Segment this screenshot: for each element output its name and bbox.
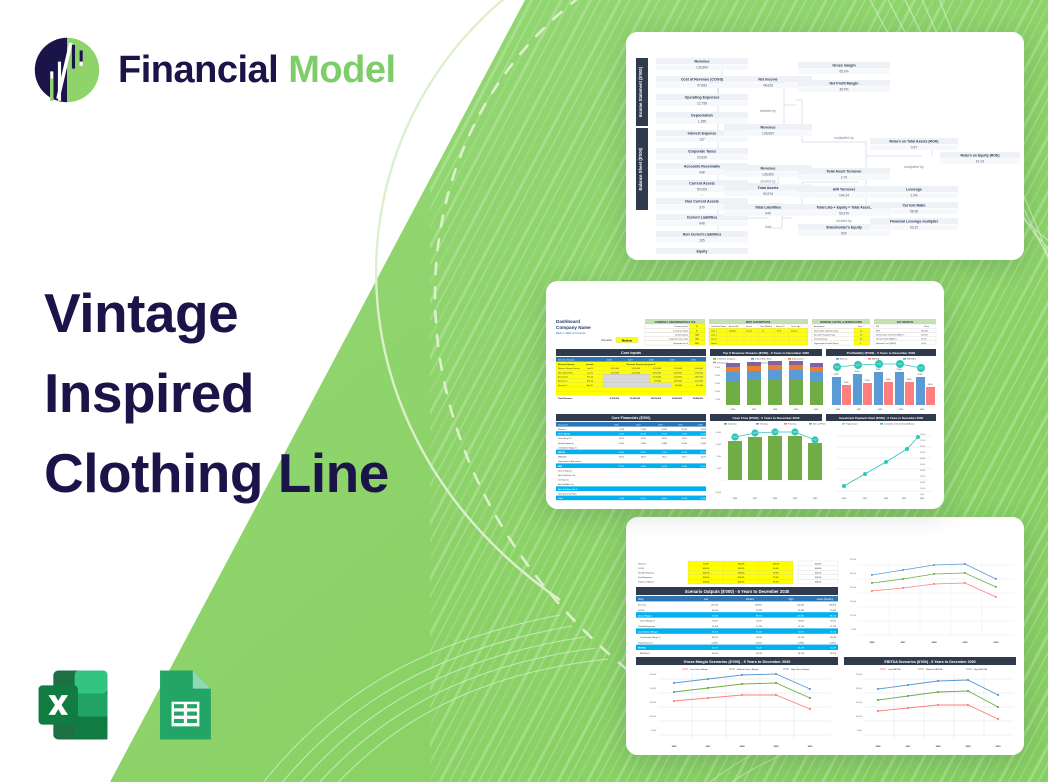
svg-text:63.1%: 63.1%	[682, 457, 687, 459]
svg-text:42,710: 42,710	[701, 452, 707, 454]
svg-text:0.97: 0.97	[911, 146, 918, 150]
svg-text:44,290: 44,290	[712, 653, 719, 655]
svg-text:20,000: 20,000	[856, 688, 863, 690]
svg-text:71,547: 71,547	[756, 648, 763, 650]
svg-text:13,590: 13,590	[641, 443, 647, 445]
headline-line-3: Clothing Line	[44, 434, 389, 514]
svg-text:848: 848	[699, 222, 705, 226]
svg-text:58.2%: 58.2%	[641, 457, 646, 459]
svg-text:95.0%: 95.0%	[773, 573, 779, 575]
svg-text:144.24: 144.24	[839, 194, 849, 198]
svg-text:Jan-26: Jan-26	[587, 368, 593, 370]
svg-text:36,270: 36,270	[641, 498, 647, 500]
svg-text:69.8%: 69.8%	[798, 621, 804, 623]
svg-text:10,000: 10,000	[650, 716, 657, 718]
svg-text:(4,384): (4,384)	[798, 642, 805, 644]
svg-text:Company Name: Company Name	[556, 325, 591, 330]
svg-text:Active (Medium): Active (Medium)	[817, 598, 834, 601]
svg-text:13,240: 13,240	[773, 432, 778, 434]
svg-text:(4,615): (4,615)	[830, 642, 837, 644]
svg-text:Revenue Forecast by years $: Revenue Forecast by years $	[627, 363, 656, 366]
svg-text:57,000: 57,000	[920, 440, 925, 442]
svg-text:48,628: 48,628	[662, 484, 668, 486]
svg-text:EBITDA %: EBITDA %	[558, 456, 567, 459]
svg-text:105.0%: 105.0%	[703, 582, 710, 584]
financial-model-circle-chart-logo	[32, 35, 102, 105]
svg-text:2029: 2029	[963, 642, 969, 644]
svg-text:16,140: 16,140	[701, 434, 707, 436]
svg-text:88,100: 88,100	[641, 434, 647, 436]
svg-text:90.0%: 90.0%	[703, 563, 709, 565]
svg-text:Scenario: Scenario	[601, 338, 612, 342]
svg-text:Leverage: Leverage	[906, 187, 922, 191]
svg-text:12,640: 12,640	[701, 443, 707, 445]
svg-text:2030: 2030	[808, 746, 814, 748]
svg-text:23,800: 23,800	[907, 379, 912, 381]
svg-text:100.0%: 100.0%	[815, 563, 822, 565]
svg-text:13,396: 13,396	[712, 626, 719, 628]
svg-text:-: -	[702, 107, 703, 111]
svg-text:12.0%: 12.0%	[921, 339, 927, 341]
svg-text:EBITDA Scenarios ($'000) - 5 Y: EBITDA Scenarios ($'000) - 5 Years to De…	[884, 660, 975, 664]
svg-text:Launch: Launch	[586, 364, 594, 366]
svg-text:4,000: 4,000	[717, 468, 722, 470]
svg-text:Interest: Interest	[791, 329, 798, 332]
svg-text:KEY METRICS: KEY METRICS	[897, 321, 914, 324]
svg-text:Total Revenue: Total Revenue	[558, 397, 573, 400]
svg-text:DEBT ASSUMPTIONS: DEBT ASSUMPTIONS	[746, 321, 771, 324]
headline-line-1: Vintage	[44, 274, 389, 354]
svg-text:71,400: 71,400	[619, 434, 625, 436]
svg-text:5,000: 5,000	[920, 494, 924, 496]
svg-text:930,000: 930,000	[654, 381, 661, 383]
svg-text:Corporate tax %: Corporate tax %	[673, 342, 688, 345]
svg-text:20,000: 20,000	[920, 482, 925, 484]
svg-text:Variable Expenses: Variable Expenses	[558, 442, 574, 445]
svg-text:30,000: 30,000	[920, 470, 925, 472]
svg-text:95.0%: 95.0%	[773, 577, 779, 579]
svg-text:45,486: 45,486	[798, 610, 805, 612]
svg-text:Profitability ($'000) - 5 Year: Profitability ($'000) - 5 Years to Decem…	[847, 351, 916, 355]
svg-text:Total Liabilities: Total Liabilities	[755, 205, 781, 209]
svg-text:-: -	[702, 89, 703, 93]
svg-text:52,290: 52,290	[830, 653, 837, 655]
brand-wordmark: Financial Model	[118, 51, 396, 89]
svg-text:1 Womens Vintage Dr...: 1 Womens Vintage Dr...	[717, 358, 737, 361]
svg-text:31,600: 31,600	[855, 371, 860, 373]
svg-text:Revenue: Revenue	[761, 125, 776, 129]
svg-text:Contribution Margin: Contribution Margin	[638, 631, 659, 634]
svg-text:2,500,000: 2,500,000	[674, 377, 682, 379]
svg-text:5,000: 5,000	[857, 730, 863, 732]
svg-text:Internal Rate of Return (IRR),: Internal Rate of Return (IRR), %	[876, 334, 905, 337]
svg-text:Depreciation Period (Years): Depreciation Period (Years)	[814, 342, 839, 345]
svg-text:74,000: 74,000	[920, 434, 925, 436]
svg-text:multiplied by: multiplied by	[834, 136, 854, 140]
google-sheets-icon[interactable]	[142, 664, 224, 746]
svg-text:35,400: 35,400	[897, 369, 902, 371]
svg-text:Grace Type: Grace Type	[791, 325, 801, 328]
svg-text:A/R Turnover: A/R Turnover	[833, 187, 856, 191]
brand-word-financial: Financial	[118, 49, 278, 91]
svg-text:Financial Leverage multiplier: Financial Leverage multiplier	[890, 219, 939, 223]
svg-text:Utility: Utility	[638, 598, 644, 601]
svg-text:Variable Expenses: Variable Expenses	[638, 625, 655, 628]
svg-text:Loan 1: Loan 1	[711, 330, 717, 332]
svg-text:47,880: 47,880	[830, 610, 837, 612]
svg-text:-: -	[702, 71, 703, 75]
svg-text:20%: 20%	[695, 343, 699, 345]
svg-text:2028: 2028	[740, 746, 746, 748]
svg-text:Interest %: Interest %	[776, 325, 785, 328]
svg-text:40,550: 40,550	[701, 466, 707, 468]
svg-text:(4,000): (4,000)	[715, 492, 721, 494]
svg-text:High: High	[789, 599, 794, 601]
svg-text:54,605: 54,605	[712, 648, 719, 650]
svg-text:40,000: 40,000	[920, 458, 925, 460]
svg-text:4,800,000: 4,800,000	[653, 372, 661, 374]
svg-text:100.0%: 100.0%	[738, 582, 745, 584]
svg-text:88,920: 88,920	[830, 615, 837, 617]
svg-text:5,000: 5,000	[716, 399, 721, 401]
svg-text:35.5%: 35.5%	[839, 88, 848, 92]
svg-text:Operating: Operating	[728, 423, 736, 426]
svg-text:Net Profit After Tax %: Net Profit After Tax %	[558, 488, 578, 491]
svg-text:5,000: 5,000	[651, 730, 657, 732]
svg-text:Non Current Liabilities: Non Current Liabilities	[683, 232, 722, 236]
svg-text:divided by: divided by	[760, 109, 776, 113]
svg-text:4,350,000: 4,350,000	[611, 368, 619, 370]
scenario-analysis: RevenueCOGS Variable ExpensesFixed Expen…	[626, 517, 1024, 755]
svg-text:Back to Table of Contents: Back to Table of Contents	[556, 331, 586, 335]
svg-text:Dashboard: Dashboard	[556, 319, 580, 324]
svg-text:Description: Description	[558, 423, 568, 426]
svg-text:5,000: 5,000	[851, 629, 857, 631]
svg-text:610,000: 610,000	[696, 385, 703, 387]
svg-text:12,270: 12,270	[753, 433, 758, 435]
svg-text:2027: 2027	[901, 642, 907, 644]
promo-banner: Financial Model Vintage Inspired Clothin…	[0, 0, 1048, 782]
svg-text:2028: 2028	[932, 642, 938, 644]
svg-text:Accessories: Accessories	[558, 376, 568, 379]
svg-text:100.0%: 100.0%	[738, 577, 745, 579]
svg-text:95.0%: 95.0%	[773, 582, 779, 584]
svg-text:50,576: 50,576	[763, 192, 773, 196]
svg-text:100.0%: 100.0%	[815, 577, 822, 579]
svg-text:17,000: 17,000	[850, 615, 857, 617]
svg-text:61,090: 61,090	[682, 452, 688, 454]
svg-text:50,576: 50,576	[839, 212, 849, 216]
svg-text:136,800: 136,800	[762, 132, 774, 136]
svg-text:100.0%: 100.0%	[738, 573, 745, 575]
svg-text:110.0%: 110.0%	[773, 563, 780, 565]
svg-text:Revenue: Revenue	[840, 359, 848, 361]
svg-text:50,750: 50,750	[619, 466, 625, 468]
svg-text:Revenue Streams: Revenue Streams	[558, 358, 575, 361]
svg-text:Non Current Assets: Non Current Assets	[685, 199, 719, 203]
svg-text:2026: 2026	[870, 642, 876, 644]
svg-text:61,720: 61,720	[798, 637, 805, 639]
svg-text:18,580,000: 18,580,000	[693, 398, 704, 400]
svg-text:WORKING CAPITAL & DEPRECIATION: WORKING CAPITAL & DEPRECIATION	[820, 321, 862, 324]
svg-text:25,200: 25,200	[918, 374, 923, 376]
svg-text:123,120: 123,120	[711, 605, 719, 607]
screenshot-card-dashboard[interactable]: Dashboard Company Name Back to Table of …	[546, 281, 944, 509]
svg-text:59.2%: 59.2%	[712, 621, 718, 623]
svg-text:4,100,000: 4,100,000	[632, 372, 640, 374]
svg-text:35,000: 35,000	[920, 464, 925, 466]
brand-word-model: Model	[288, 49, 395, 91]
svg-text:1,365: 1,365	[698, 120, 706, 124]
svg-text:38,240: 38,240	[662, 498, 668, 500]
svg-text:(4,615): (4,615)	[756, 642, 763, 644]
svg-text:55,680: 55,680	[830, 637, 837, 639]
svg-text:Current Liabilities: Current Liabilities	[687, 215, 718, 219]
svg-text:2026: 2026	[876, 746, 882, 748]
svg-text:Core Financials ($'000): Core Financials ($'000)	[611, 416, 651, 420]
svg-text:6,500,000: 6,500,000	[653, 368, 661, 370]
svg-text:divided by: divided by	[760, 180, 776, 184]
svg-text:Jan-26: Jan-26	[587, 372, 593, 374]
svg-text:Low EBITDA: Low EBITDA	[888, 668, 901, 671]
svg-text:Add: Add	[764, 225, 772, 229]
svg-text:95.0%: 95.0%	[773, 568, 779, 570]
svg-text:Cash Flow ($'000) - 5 Years to: Cash Flow ($'000) - 5 Years to December …	[733, 416, 800, 420]
svg-text:3 Accessories: 3 Accessories	[792, 358, 804, 361]
svg-text:8,400: 8,400	[620, 498, 625, 500]
svg-text:-: -	[702, 125, 703, 129]
svg-text:Discount Rate (WACC): Discount Rate (WACC)	[876, 338, 897, 341]
svg-text:10,000: 10,000	[856, 716, 863, 718]
svg-text:Payback year: Payback year	[846, 423, 858, 426]
svg-text:10,000: 10,000	[715, 391, 721, 393]
svg-text:948: 948	[699, 171, 705, 175]
svg-text:58.98: 58.98	[910, 210, 918, 214]
svg-text:Scenario Outputs ($'000) - 5 Y: Scenario Outputs ($'000) - 5 Years to De…	[685, 589, 790, 594]
svg-text:5,800,000: 5,800,000	[632, 368, 640, 370]
svg-text:14,650: 14,650	[928, 384, 933, 386]
svg-text:65.4%: 65.4%	[877, 364, 882, 366]
svg-text:High EBITDA: High EBITDA	[974, 668, 988, 671]
svg-text:Gross Margin Scenarios ($'000): Gross Margin Scenarios ($'000) - 5 Years…	[684, 660, 791, 664]
svg-text:15,000: 15,000	[850, 587, 857, 589]
svg-text:Return on Equity (ROE): Return on Equity (ROE)	[960, 153, 999, 157]
svg-text:100.0%: 100.0%	[815, 568, 822, 570]
svg-text:47,880: 47,880	[756, 610, 763, 612]
svg-text:Womens Vintage Dresses: Womens Vintage Dresses	[558, 367, 580, 370]
headline-line-2: Inspired	[44, 354, 389, 434]
svg-text:8,700,000: 8,700,000	[610, 398, 620, 400]
svg-text:Salaries & Wages: Salaries & Wages	[638, 582, 654, 584]
svg-text:2030: 2030	[996, 746, 1002, 748]
svg-text:570: 570	[699, 206, 705, 210]
svg-text:65.4%: 65.4%	[898, 364, 903, 366]
microsoft-excel-icon[interactable]	[32, 664, 114, 746]
svg-text:1,220,000: 1,220,000	[695, 381, 703, 383]
svg-text:48,628: 48,628	[619, 484, 625, 486]
svg-text:Apr-26: Apr-26	[587, 384, 593, 387]
svg-text:15,900: 15,900	[682, 443, 688, 445]
svg-text:100.0%: 100.0%	[815, 573, 822, 575]
svg-text:105.0%: 105.0%	[703, 577, 710, 579]
svg-text:65.6%: 65.6%	[662, 438, 667, 440]
svg-text:2,850,000: 2,850,000	[695, 377, 703, 379]
svg-text:Revenue: Revenue	[761, 166, 776, 170]
svg-text:76,162: 76,162	[756, 632, 763, 634]
svg-text:16,000: 16,000	[716, 432, 722, 434]
svg-text:88,920: 88,920	[756, 615, 763, 617]
svg-text:55,680: 55,680	[756, 637, 763, 639]
svg-text:Financing: Financing	[788, 424, 796, 426]
svg-text:23,800: 23,800	[886, 379, 891, 381]
svg-text:Medium EBITDA: Medium EBITDA	[926, 668, 943, 671]
svg-text:48,628: 48,628	[763, 84, 773, 88]
svg-text:Variable Expenses: Variable Expenses	[638, 573, 655, 575]
svg-text:EBITDA: EBITDA	[558, 451, 566, 454]
svg-text:Accounts Receivable: Accounts Receivable	[684, 164, 720, 168]
svg-text:Net Income: Net Income	[758, 77, 777, 81]
svg-text:12,758: 12,758	[756, 626, 763, 628]
svg-text:100.0%: 100.0%	[738, 568, 745, 570]
svg-text:8,000,000: 8,000,000	[695, 368, 703, 370]
svg-text:65.0%: 65.0%	[839, 70, 848, 74]
ratio-analysis-flowchart: Income Statement ($'000) Balance Sheet (…	[626, 32, 1024, 260]
svg-text:63.2%: 63.2%	[919, 368, 924, 370]
svg-text:2029: 2029	[774, 746, 780, 748]
svg-text:51,800: 51,800	[682, 466, 688, 468]
svg-text:Operating Cash Flows: Operating Cash Flows	[558, 492, 577, 495]
financial-dashboard: Dashboard Company Name Back to Table of …	[546, 281, 944, 509]
screenshot-card-ratio-analysis[interactable]: Income Statement ($'000) Balance Sheet (…	[626, 32, 1024, 260]
svg-text:Feb-26: Feb-26	[587, 377, 593, 379]
svg-text:Loan 3: Loan 3	[711, 339, 717, 341]
svg-text:Medium: Medium	[622, 338, 633, 342]
svg-text:Current Ratio: Current Ratio	[903, 203, 927, 207]
svg-text:Corporate taxes (Y1): Corporate taxes (Y1)	[669, 338, 689, 341]
svg-text:Gross margin: Gross margin	[832, 63, 855, 67]
svg-text:12,360,000: 12,360,000	[630, 398, 641, 400]
svg-text:8,400: 8,400	[733, 437, 737, 439]
svg-text:62,450: 62,450	[662, 452, 668, 454]
svg-text:17,340: 17,340	[682, 434, 688, 436]
svg-text:23,110: 23,110	[701, 429, 706, 431]
svg-text:2027: 2027	[706, 746, 712, 748]
svg-text:14,880: 14,880	[662, 443, 668, 445]
svg-text:48,628: 48,628	[641, 484, 647, 486]
svg-text:20,000: 20,000	[715, 375, 721, 377]
svg-text:Shareholder's Equity: Shareholder's Equity	[826, 225, 862, 229]
svg-text:104,994: 104,994	[797, 615, 805, 617]
svg-text:Inventory Days: Inventory Days	[814, 338, 827, 341]
svg-text:44,504: 44,504	[701, 498, 707, 500]
svg-text:2029: 2029	[966, 746, 972, 748]
svg-text:Income Statement ($'000): Income Statement ($'000)	[638, 66, 643, 117]
svg-text:Cumulative Cash Generated (Ass: Cumulative Cash Generated (Asset)	[884, 423, 915, 426]
svg-text:KPI: KPI	[876, 326, 880, 328]
svg-text:15,260: 15,260	[844, 382, 849, 384]
screenshot-card-scenarios[interactable]: RevenueCOGS Variable ExpensesFixed Expen…	[626, 517, 1024, 755]
svg-text:100.0%: 100.0%	[815, 582, 822, 584]
svg-text:136,800: 136,800	[755, 605, 763, 607]
svg-text:7,200,000: 7,200,000	[674, 368, 682, 370]
svg-text:2026: 2026	[672, 746, 678, 748]
svg-text:divided by: divided by	[836, 219, 852, 223]
svg-text:136,800: 136,800	[696, 66, 708, 70]
svg-text:3,200,000: 3,200,000	[611, 372, 619, 374]
svg-text:Issued: Issued	[746, 326, 752, 328]
svg-text:65.0%: 65.0%	[619, 438, 624, 440]
svg-text:Low: Low	[704, 599, 709, 601]
svg-text:88,490: 88,490	[798, 648, 805, 650]
svg-text:65.1%: 65.1%	[856, 365, 861, 367]
svg-text:72,846: 72,846	[712, 615, 719, 617]
svg-text:Minimum Cash ($'000): Minimum Cash ($'000)	[876, 343, 896, 345]
svg-text:58,270: 58,270	[641, 452, 647, 454]
svg-text:Loan/Grant Name: Loan/Grant Name	[711, 325, 726, 328]
svg-text:Jan-26: Jan-26	[746, 330, 752, 332]
svg-text:Current Assets: Current Assets	[689, 181, 715, 185]
brand-logo: Financial Model	[32, 35, 396, 105]
svg-text:Revenue 5: Revenue 5	[558, 385, 567, 387]
svg-text:8,700: 8,700	[620, 429, 625, 431]
svg-text:Currency Input: Currency Input	[674, 325, 688, 328]
svg-text:63.22: 63.22	[910, 226, 918, 230]
svg-text:multiplied by: multiplied by	[904, 165, 924, 169]
svg-text:Investing: Investing	[760, 423, 768, 426]
svg-text:64.5%: 64.5%	[835, 367, 840, 369]
svg-text:54,290: 54,290	[641, 466, 647, 468]
svg-text:10,000: 10,000	[850, 601, 857, 603]
svg-text:12,410: 12,410	[619, 443, 625, 445]
svg-text:Medium: Medium	[746, 599, 754, 601]
svg-text:67.5%: 67.5%	[641, 438, 646, 440]
svg-text:Gross Margin: Gross Margin	[638, 614, 652, 617]
svg-text:COGS: COGS	[638, 568, 645, 570]
svg-text:EBITDA %: EBITDA %	[640, 652, 650, 655]
svg-text:Gross Margin %: Gross Margin %	[558, 437, 572, 440]
svg-text:Interest Expense: Interest Expense	[688, 131, 717, 135]
svg-text:Currency Output: Currency Output	[673, 329, 689, 332]
svg-text:72: 72	[762, 330, 764, 332]
svg-text:NPV: NPV	[876, 330, 881, 332]
svg-text:Revenue Stream: Revenue Stream	[558, 363, 574, 366]
svg-text:480,000: 480,000	[675, 385, 682, 387]
svg-text:5,300,000: 5,300,000	[674, 372, 682, 374]
svg-text:60.3%: 60.3%	[619, 457, 624, 459]
svg-text:105.0%: 105.0%	[703, 573, 710, 575]
svg-text:Net Cash Flow: Net Cash Flow	[813, 423, 826, 426]
svg-text:71,547: 71,547	[830, 648, 837, 650]
svg-text:Depreciation & Amortisation: Depreciation & Amortisation	[558, 460, 581, 463]
svg-text:12,758: 12,758	[830, 626, 837, 628]
svg-text:105: 105	[699, 239, 705, 243]
svg-text:Operating Expenses: Operating Expenses	[685, 95, 720, 99]
svg-text:Grant 1: Grant 1	[711, 342, 717, 345]
svg-text:94,550: 94,550	[662, 429, 668, 431]
svg-text:Accounts Payable Days: Accounts Payable Days	[814, 334, 835, 337]
supported-formats	[32, 664, 224, 746]
svg-text:Amount ($): Amount ($)	[729, 325, 739, 328]
svg-text:1,080,000: 1,080,000	[674, 381, 682, 383]
svg-text:100.0%: 100.0%	[738, 563, 745, 565]
svg-text:54,740: 54,740	[662, 466, 668, 468]
svg-text:High Gross Margin: High Gross Margin	[791, 668, 810, 671]
svg-text:46,200: 46,200	[619, 452, 625, 454]
svg-text:20,626: 20,626	[697, 156, 707, 160]
svg-text:Revenue: Revenue	[638, 563, 647, 565]
svg-text:26,105: 26,105	[682, 429, 688, 431]
svg-text:20,000: 20,000	[850, 573, 857, 575]
